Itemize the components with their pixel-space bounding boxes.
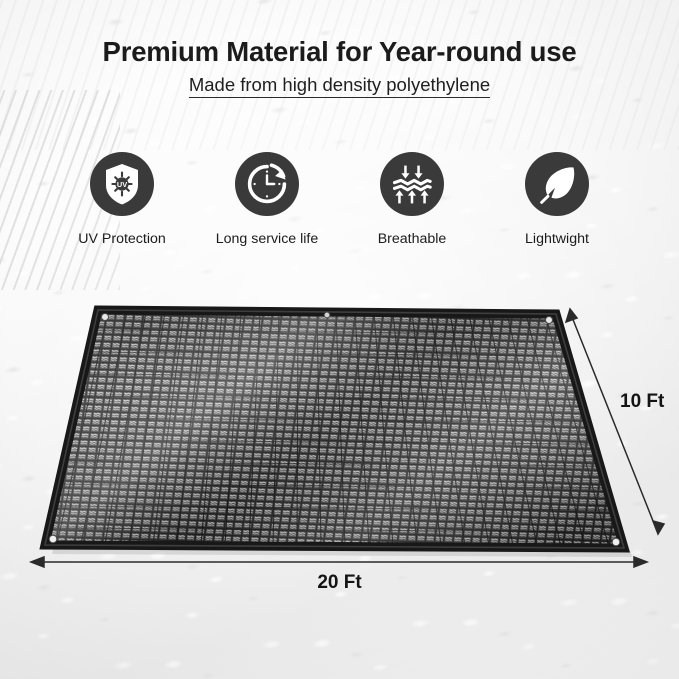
page-title: Premium Material for Year-round use — [0, 36, 679, 68]
clock-arrow-icon — [235, 152, 299, 216]
feature-uv-protection: UV UV Protection — [52, 152, 192, 247]
feature-label-long-service-life: Long service life — [197, 231, 337, 247]
feature-label-lightweight: Lightwight — [487, 231, 627, 247]
page-subtitle-text: Made from high density polyethylene — [189, 74, 490, 98]
dimension-label-height: 10 Ft — [620, 391, 664, 413]
feature-label-breathable: Breathable — [342, 231, 482, 247]
feature-lightweight: Lightwight — [487, 152, 627, 247]
dimension-label-width: 20 Ft — [0, 572, 679, 594]
feather-icon — [525, 152, 589, 216]
uv-shield-icon: UV — [90, 152, 154, 216]
breathable-waves-icon — [380, 152, 444, 216]
feature-breathable: Breathable — [342, 152, 482, 247]
feature-list: UV UV Protection — [52, 152, 627, 247]
uv-badge-text: UV — [117, 180, 127, 189]
product-infographic: Premium Material for Year-round use Made… — [0, 0, 679, 679]
page-subtitle: Made from high density polyethylene — [0, 74, 679, 96]
feature-long-service-life: Long service life — [197, 152, 337, 247]
feature-label-uv-protection: UV Protection — [52, 231, 192, 247]
